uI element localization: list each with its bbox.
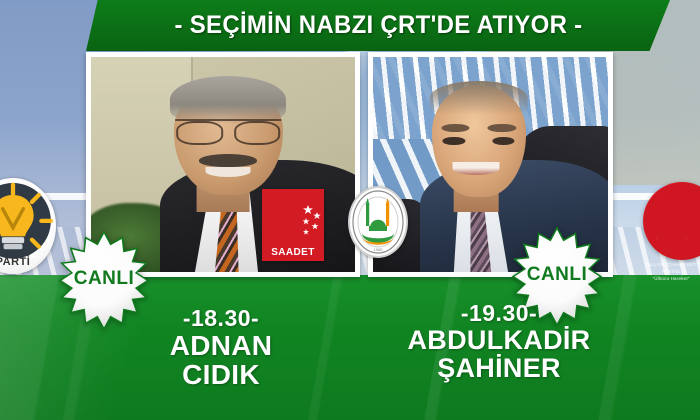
saadet-partisi-logo: SAADET — [262, 189, 324, 261]
photo-right-smile — [453, 162, 500, 175]
photo-left-hair — [170, 76, 286, 123]
mosque-icon: 1988 — [350, 188, 406, 256]
belediye-logo: 1988 — [348, 186, 408, 258]
guest-lastname-right: ŞAHİNER — [364, 355, 634, 383]
guest-time-right: -19.30- — [364, 302, 634, 325]
photo-left-mustache — [199, 154, 257, 167]
photo-left-eyeglasses — [175, 119, 281, 140]
header-title: - SEÇİMİN NABZI ÇRT'DE ATIYOR - — [174, 11, 582, 40]
guest-lastname-left: CIDIK — [106, 361, 336, 390]
live-badge-left-label: CANLI — [74, 268, 135, 290]
photo-right-eyes — [441, 137, 516, 146]
broadcast-promo-graphic: - SEÇİMİN NABZI ÇRT'DE ATIYOR - — [0, 0, 700, 420]
crescent-stars-icon — [262, 199, 324, 247]
photo-right-eyebrows — [441, 124, 516, 133]
svg-text:1988: 1988 — [374, 247, 384, 252]
guest-caption-left: -18.30- ADNAN CIDIK — [106, 307, 336, 390]
saadet-label: SAADET — [271, 247, 315, 258]
ak-parti-label: PARTİ — [0, 256, 56, 268]
mhp-caption: MiLLiYETÇi HAREKET PARTiSi"Ülkücü Hareke… — [640, 262, 700, 282]
guest-firstname-right: ABDULKADİR — [364, 327, 634, 355]
live-badge-right-label: CANLI — [527, 264, 588, 286]
photo-left-smile — [206, 167, 251, 178]
photo-right-hair — [429, 81, 528, 115]
guest-caption-right: -19.30- ABDULKADİR ŞAHİNER — [364, 302, 634, 383]
header-bar: - SEÇİMİN NABZI ÇRT'DE ATIYOR - — [86, 0, 670, 51]
guest-time-left: -18.30- — [106, 307, 336, 330]
guest-firstname-left: ADNAN — [106, 332, 336, 361]
